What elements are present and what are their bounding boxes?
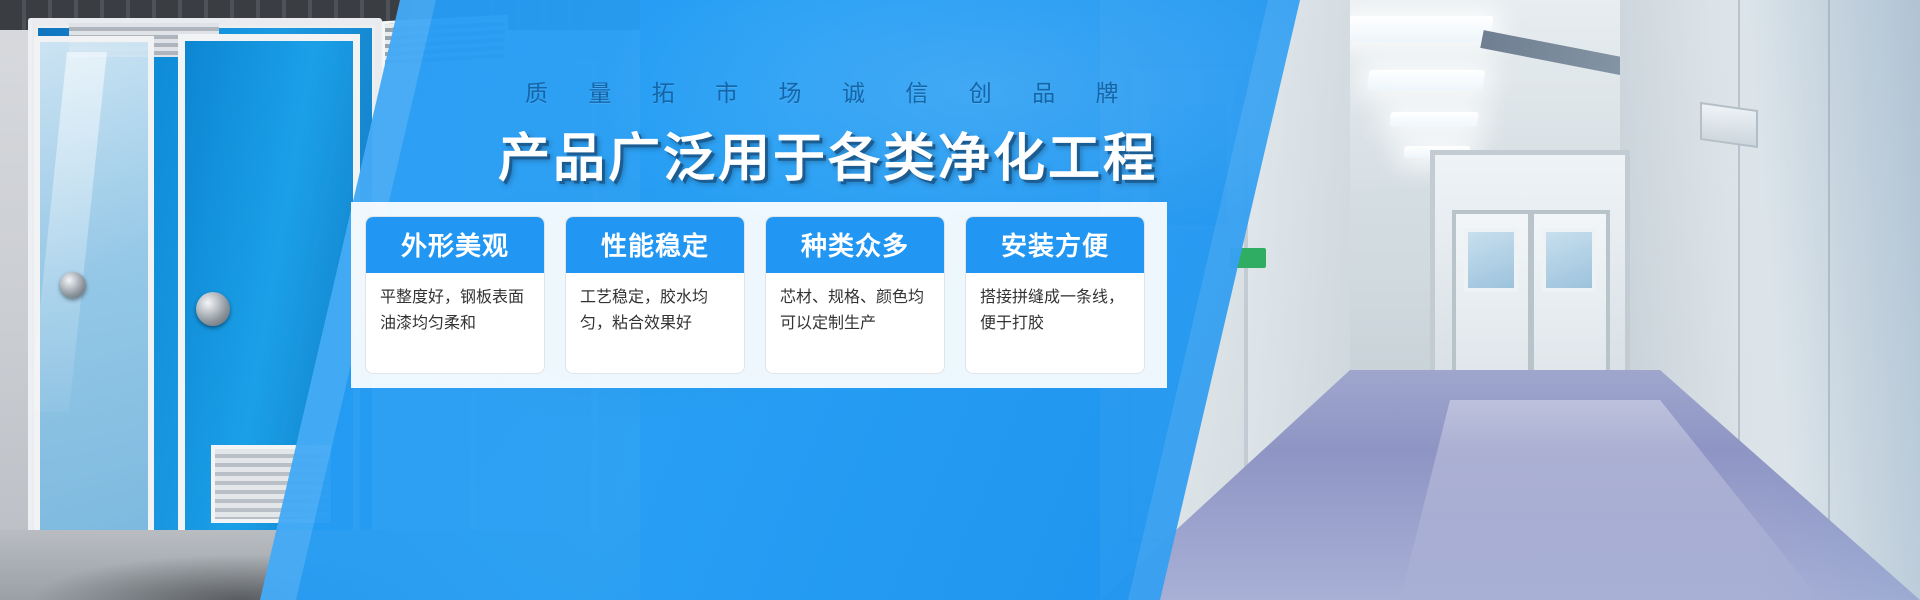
feature-card-title: 外形美观 xyxy=(366,217,544,273)
corridor-right-shading xyxy=(1620,0,1920,600)
feature-card[interactable]: 性能稳定 工艺稳定，胶水均匀，粘合效果好 xyxy=(565,216,745,374)
cabin-door-handle-icon xyxy=(196,292,230,326)
feature-card-strip: 外形美观 平整度好，钢板表面油漆均匀柔和 性能稳定 工艺稳定，胶水均匀，粘合效果… xyxy=(351,202,1167,388)
end-door-window-right xyxy=(1542,228,1596,292)
cabin-lock-icon xyxy=(60,272,86,298)
feature-card-text: 平整度好，钢板表面油漆均匀柔和 xyxy=(366,273,544,347)
ceiling-light-1 xyxy=(1340,16,1494,42)
feature-card-text: 芯材、规格、颜色均可以定制生产 xyxy=(766,273,944,347)
feature-card[interactable]: 外形美观 平整度好，钢板表面油漆均匀柔和 xyxy=(365,216,545,374)
banner-subtitle: 质 量 拓 市 场 诚 信 创 品 牌 xyxy=(525,74,1136,108)
end-door-window-left xyxy=(1464,228,1518,292)
feature-card[interactable]: 安装方便 搭接拼缝成一条线，便于打胶 xyxy=(965,216,1145,374)
feature-card-text: 搭接拼缝成一条线，便于打胶 xyxy=(966,273,1144,347)
feature-card-title: 安装方便 xyxy=(966,217,1144,273)
feature-card[interactable]: 种类众多 芯材、规格、颜色均可以定制生产 xyxy=(765,216,945,374)
ceiling-light-3 xyxy=(1389,112,1479,127)
feature-card-text: 工艺稳定，胶水均匀，粘合效果好 xyxy=(566,273,744,347)
promo-banner: 质 量 拓 市 场 诚 信 创 品 牌 产品广泛用于各类净化工程 外形美观 平整… xyxy=(0,0,1920,600)
ceiling-light-2 xyxy=(1367,70,1485,90)
cabin-glass-panel xyxy=(34,36,154,568)
feature-card-title: 种类众多 xyxy=(766,217,944,273)
feature-card-title: 性能稳定 xyxy=(566,217,744,273)
banner-headline: 产品广泛用于各类净化工程 xyxy=(498,116,1158,191)
